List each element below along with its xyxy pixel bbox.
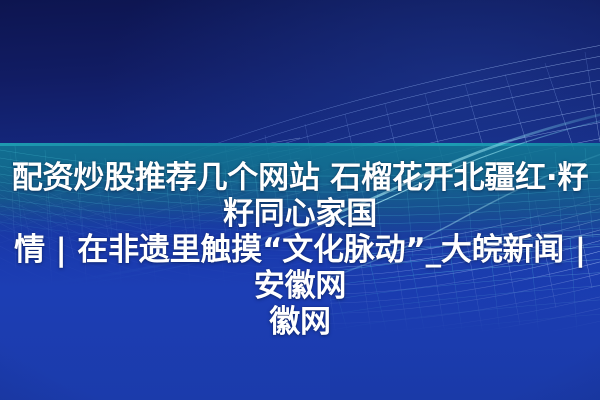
article-banner: 配资炒股推荐几个网站 石榴花开北疆红·籽籽同心家国 情 | 在非遗里触摸“文化脉… <box>0 0 600 400</box>
wave-crest-glow <box>0 0 600 400</box>
